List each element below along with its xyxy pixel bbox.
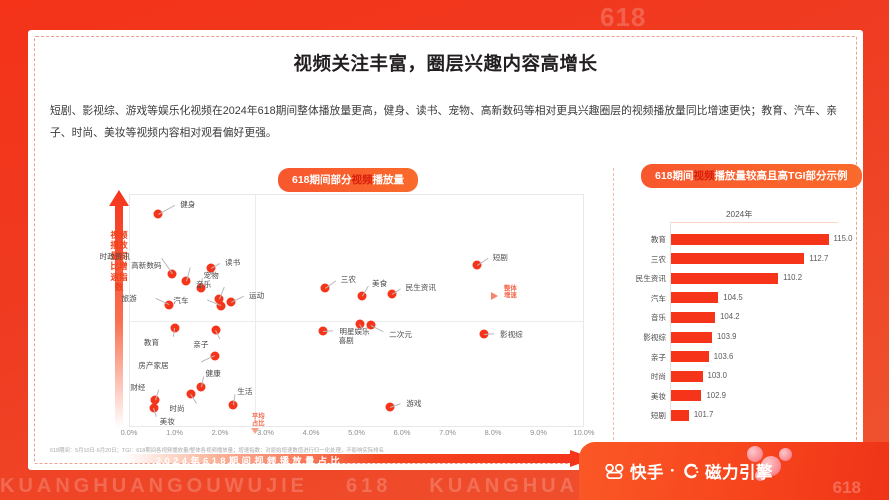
x-axis-ticks: 平均 占比 0.0%1.0%2.0%3.0%4.0%5.0%6.0%7.0%8.… xyxy=(129,428,599,442)
scatter-point-label: 汽车 xyxy=(173,295,188,306)
scatter-point-label: 短剧 xyxy=(493,252,508,263)
kuaishou-logo-icon xyxy=(605,464,624,479)
bar-category-label: 短剧 xyxy=(614,410,666,421)
bar-row: 时尚103.0 xyxy=(614,367,854,387)
scatter-point-label: 喜剧 xyxy=(339,335,354,346)
bar-fill xyxy=(671,332,712,343)
bar-fill xyxy=(671,351,709,362)
scatter-point-label: 健康 xyxy=(206,368,221,379)
average-vertical-line xyxy=(255,195,256,426)
scatter-point-label: 运动 xyxy=(249,290,264,301)
scatter-point-label: 影视综 xyxy=(500,329,523,340)
bar-fill xyxy=(671,273,778,284)
bar-row: 美妆102.9 xyxy=(614,387,854,407)
scatter-title-prefix: 618期间部分 xyxy=(292,174,352,186)
scatter-point-label: 生活 xyxy=(237,386,252,397)
scatter-point-label: 教育 xyxy=(144,337,159,348)
bar-fill xyxy=(671,292,718,303)
bar-fill xyxy=(671,371,703,382)
bar-top-rule xyxy=(670,222,838,223)
scatter-point-label: 二次元 xyxy=(389,329,412,340)
footnote: 618期间：5月10日-6月20日；TGI：618期间各视频播放量/整体各视频播… xyxy=(50,446,384,454)
bar-category-label: 三农 xyxy=(614,254,666,265)
bar-row: 短剧101.7 xyxy=(614,406,854,426)
scatter-title-suffix: 播放量 xyxy=(373,174,405,186)
scatter-leader-line xyxy=(484,333,494,335)
watermark-bottom-item: 618 xyxy=(346,475,391,497)
brand-logo: 快手 · 磁力引擎 xyxy=(605,459,773,483)
bar-title-highlight: 视频 xyxy=(694,170,715,182)
bar-series-label: 2024年 xyxy=(726,208,752,220)
bar-value-label: 115.0 xyxy=(834,234,853,243)
magnetic-engine-logo-icon xyxy=(682,463,699,479)
bar-row: 亲子103.6 xyxy=(614,348,854,368)
scatter-point-label: 三农 xyxy=(341,274,356,285)
x-tick-label: 6.0% xyxy=(394,428,411,437)
x-tick-label: 9.0% xyxy=(530,428,547,437)
scatter-point-label: 时尚 xyxy=(169,403,184,414)
scatter-point-label: 时政资讯 xyxy=(100,251,130,262)
bar-row: 三农112.7 xyxy=(614,250,854,270)
scatter-point-label: 房产家居 xyxy=(138,360,168,371)
bar-value-label: 103.0 xyxy=(708,371,728,380)
x-tick-label: 7.0% xyxy=(439,428,456,437)
scatter-point-label: 健身 xyxy=(180,199,195,210)
bar-value-label: 110.2 xyxy=(783,273,802,282)
brand-footer: 快手 · 磁力引擎 618 xyxy=(579,442,889,500)
y-axis-arrow-icon xyxy=(108,190,130,428)
overall-arrow-icon xyxy=(491,292,498,300)
flower-decoration xyxy=(779,448,792,461)
bar-value-label: 101.7 xyxy=(694,410,714,419)
summary-paragraph: 短剧、影视综、游戏等娱乐化视频在2024年618期间整体播放量更高，健身、读书、… xyxy=(50,100,845,144)
scatter-point-label: 高新数码 xyxy=(131,260,161,271)
scatter-chart-panel: 618期间部分视频播放量 视频播放量同比增速指数 健身时政资讯高新数码读书宠物音… xyxy=(46,168,594,428)
overall-growth-marker: 整体 增速 xyxy=(504,286,517,299)
bar-value-label: 112.7 xyxy=(809,254,828,263)
scatter-point-label: 财经 xyxy=(130,382,145,393)
x-tick-label: 3.0% xyxy=(257,428,274,437)
bar-category-label: 影视综 xyxy=(614,332,666,343)
bar-fill xyxy=(671,410,689,421)
scatter-point xyxy=(181,277,190,286)
bar-fill xyxy=(671,234,829,245)
x-axis-label: 2024年618期间视频播放量占比 xyxy=(156,453,343,467)
slide-root: 618 KUANGHUANGOUWUJIE618KUANGHUANGOUWUJI… xyxy=(0,0,889,500)
bar-category-label: 美妆 xyxy=(614,391,666,402)
bar-fill xyxy=(671,253,804,264)
bar-fill xyxy=(671,312,715,323)
scatter-chart-title: 618期间部分视频播放量 xyxy=(278,168,418,192)
scatter-point-label: 读书 xyxy=(225,257,240,268)
bar-row: 教育115.0 xyxy=(614,230,854,250)
bar-category-label: 教育 xyxy=(614,234,666,245)
bar-title-suffix: 播放量较高且高TGI部分示例 xyxy=(715,170,848,182)
bar-row: 汽车104.5 xyxy=(614,289,854,309)
engine-name: 磁力引擎 xyxy=(705,459,773,483)
scatter-point-label: 美妆 xyxy=(160,416,175,427)
brand-618-watermark: 618 xyxy=(833,478,861,498)
scatter-point-label: 亲子 xyxy=(193,339,208,350)
bar-value-label: 103.6 xyxy=(714,352,734,361)
scatter-point-label: 游戏 xyxy=(406,398,421,409)
bar-chart-title: 618期间视频播放量较高且高TGI部分示例 xyxy=(641,164,862,188)
scatter-point xyxy=(171,323,180,332)
bar-category-label: 音乐 xyxy=(614,312,666,323)
bar-chart-panel: 618期间视频播放量较高且高TGI部分示例 2024年 教育115.0三农112… xyxy=(613,168,853,440)
average-ratio-marker: 平均 占比 xyxy=(252,414,265,427)
scatter-point-label: 美食 xyxy=(372,278,387,289)
scatter-plot-area: 健身时政资讯高新数码读书宠物音乐运动汽车旅游三农美食民生资讯短剧教育亲子明星娱乐… xyxy=(129,194,584,427)
x-tick-label: 0.0% xyxy=(121,428,138,437)
bar-value-label: 102.9 xyxy=(706,391,726,400)
brand-name: 快手 xyxy=(630,459,664,483)
scatter-point-label: 旅游 xyxy=(122,293,137,304)
watermark-top: 618 xyxy=(600,2,646,33)
bar-value-label: 103.9 xyxy=(717,332,737,341)
x-tick-label: 8.0% xyxy=(485,428,502,437)
bar-title-prefix: 618期间 xyxy=(655,170,694,182)
slide-card: 视频关注丰富，圈层兴趣内容高增长 短剧、影视综、游戏等娱乐化视频在2024年61… xyxy=(28,30,863,470)
page-title: 视频关注丰富，圈层兴趣内容高增长 xyxy=(28,50,863,76)
bar-category-label: 时尚 xyxy=(614,371,666,382)
bar-category-label: 亲子 xyxy=(614,352,666,363)
x-tick-label: 1.0% xyxy=(166,428,183,437)
scatter-point-label: 音乐 xyxy=(196,279,211,290)
x-tick-label: 2.0% xyxy=(212,428,229,437)
watermark-bottom-item: KUANGHUANGOUWUJIE xyxy=(0,475,308,497)
bar-row: 民生资讯110.2 xyxy=(614,269,854,289)
bar-value-label: 104.2 xyxy=(720,312,740,321)
bar-row: 影视综103.9 xyxy=(614,328,854,348)
bar-category-label: 民生资讯 xyxy=(614,273,666,284)
bar-row: 音乐104.2 xyxy=(614,308,854,328)
scatter-point-label: 民生资讯 xyxy=(406,282,436,293)
bar-category-label: 汽车 xyxy=(614,293,666,304)
x-tick-label: 10.0% xyxy=(574,428,595,437)
bar-fill xyxy=(671,390,701,401)
brand-separator: · xyxy=(670,462,676,481)
x-tick-label: 5.0% xyxy=(348,428,365,437)
x-tick-label: 4.0% xyxy=(303,428,320,437)
bar-value-label: 104.5 xyxy=(723,293,743,302)
scatter-title-highlight: 视频 xyxy=(352,174,373,186)
